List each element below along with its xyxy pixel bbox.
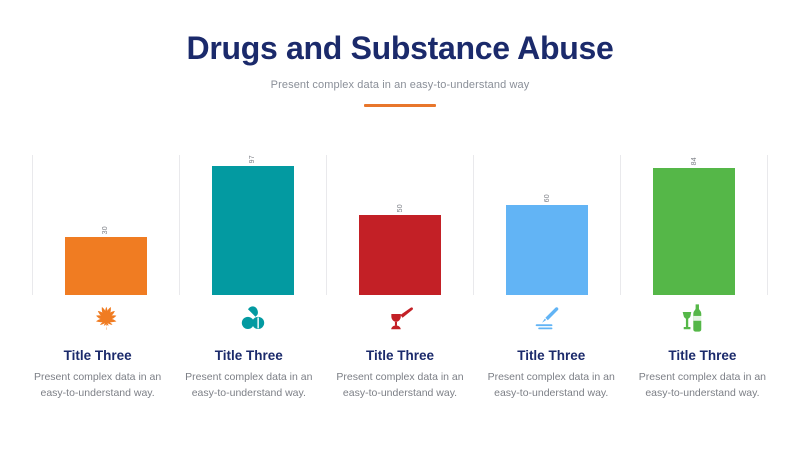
caption-desc-3: Present complex data in an easy-to-under…: [332, 370, 467, 402]
page-subtitle: Present complex data in an easy-to-under…: [0, 79, 800, 91]
bar-wrapper-2: 97: [179, 155, 326, 295]
smoking-pipe-icon: [385, 304, 415, 332]
icon-cell-4: [474, 302, 621, 334]
bar-wrapper-3: 50: [326, 155, 473, 295]
caption-row: Title Three Present complex data in an e…: [22, 348, 778, 402]
caption-title-4: Title Three: [484, 348, 619, 363]
alcohol-bottle-icon: [680, 303, 708, 333]
bar-value-label-4: 60: [544, 194, 551, 202]
cannabis-leaf-icon: [92, 304, 120, 332]
caption-title-1: Title Three: [30, 348, 165, 363]
header: Drugs and Substance Abuse Present comple…: [0, 30, 800, 107]
bar-chart: 30 97 50 60 84: [32, 155, 768, 295]
caption-cell-2: Title Three Present complex data in an e…: [173, 348, 324, 402]
caption-cell-3: Title Three Present complex data in an e…: [324, 348, 475, 402]
icon-cell-3: [326, 302, 473, 334]
bar-wrapper-1: 30: [32, 155, 179, 295]
icon-row: [32, 302, 768, 334]
caption-cell-1: Title Three Present complex data in an e…: [22, 348, 173, 402]
icon-cell-5: [621, 302, 768, 334]
bar-5[interactable]: [653, 168, 735, 295]
title-divider: [364, 104, 436, 107]
caption-cell-4: Title Three Present complex data in an e…: [476, 348, 627, 402]
bar-value-label-5: 84: [691, 157, 698, 165]
chart-column-4: 60: [474, 155, 621, 295]
bar-wrapper-4: 60: [474, 155, 621, 295]
caption-desc-1: Present complex data in an easy-to-under…: [30, 370, 165, 402]
caption-title-2: Title Three: [181, 348, 316, 363]
caption-cell-5: Title Three Present complex data in an e…: [627, 348, 778, 402]
caption-desc-2: Present complex data in an easy-to-under…: [181, 370, 316, 402]
caption-title-5: Title Three: [635, 348, 770, 363]
bar-wrapper-5: 84: [621, 155, 768, 295]
bar-4[interactable]: [506, 205, 588, 295]
pills-icon: [239, 304, 267, 332]
caption-title-3: Title Three: [332, 348, 467, 363]
icon-cell-1: [32, 302, 179, 334]
chart-column-2: 97: [179, 155, 326, 295]
page-title: Drugs and Substance Abuse: [0, 30, 800, 67]
caption-desc-5: Present complex data in an easy-to-under…: [635, 370, 770, 402]
bar-value-label-2: 97: [249, 155, 256, 163]
bar-3[interactable]: [359, 215, 441, 295]
icon-cell-2: [179, 302, 326, 334]
chart-column-5: 84: [621, 155, 768, 295]
bar-value-label-1: 30: [102, 226, 109, 234]
razor-powder-icon: [532, 304, 562, 332]
slide-canvas: Drugs and Substance Abuse Present comple…: [0, 0, 800, 450]
chart-column-1: 30: [32, 155, 179, 295]
chart-column-3: 50: [326, 155, 473, 295]
bar-value-label-3: 50: [397, 204, 404, 212]
bar-1[interactable]: [65, 237, 147, 295]
caption-desc-4: Present complex data in an easy-to-under…: [484, 370, 619, 402]
bar-2[interactable]: [212, 166, 294, 295]
